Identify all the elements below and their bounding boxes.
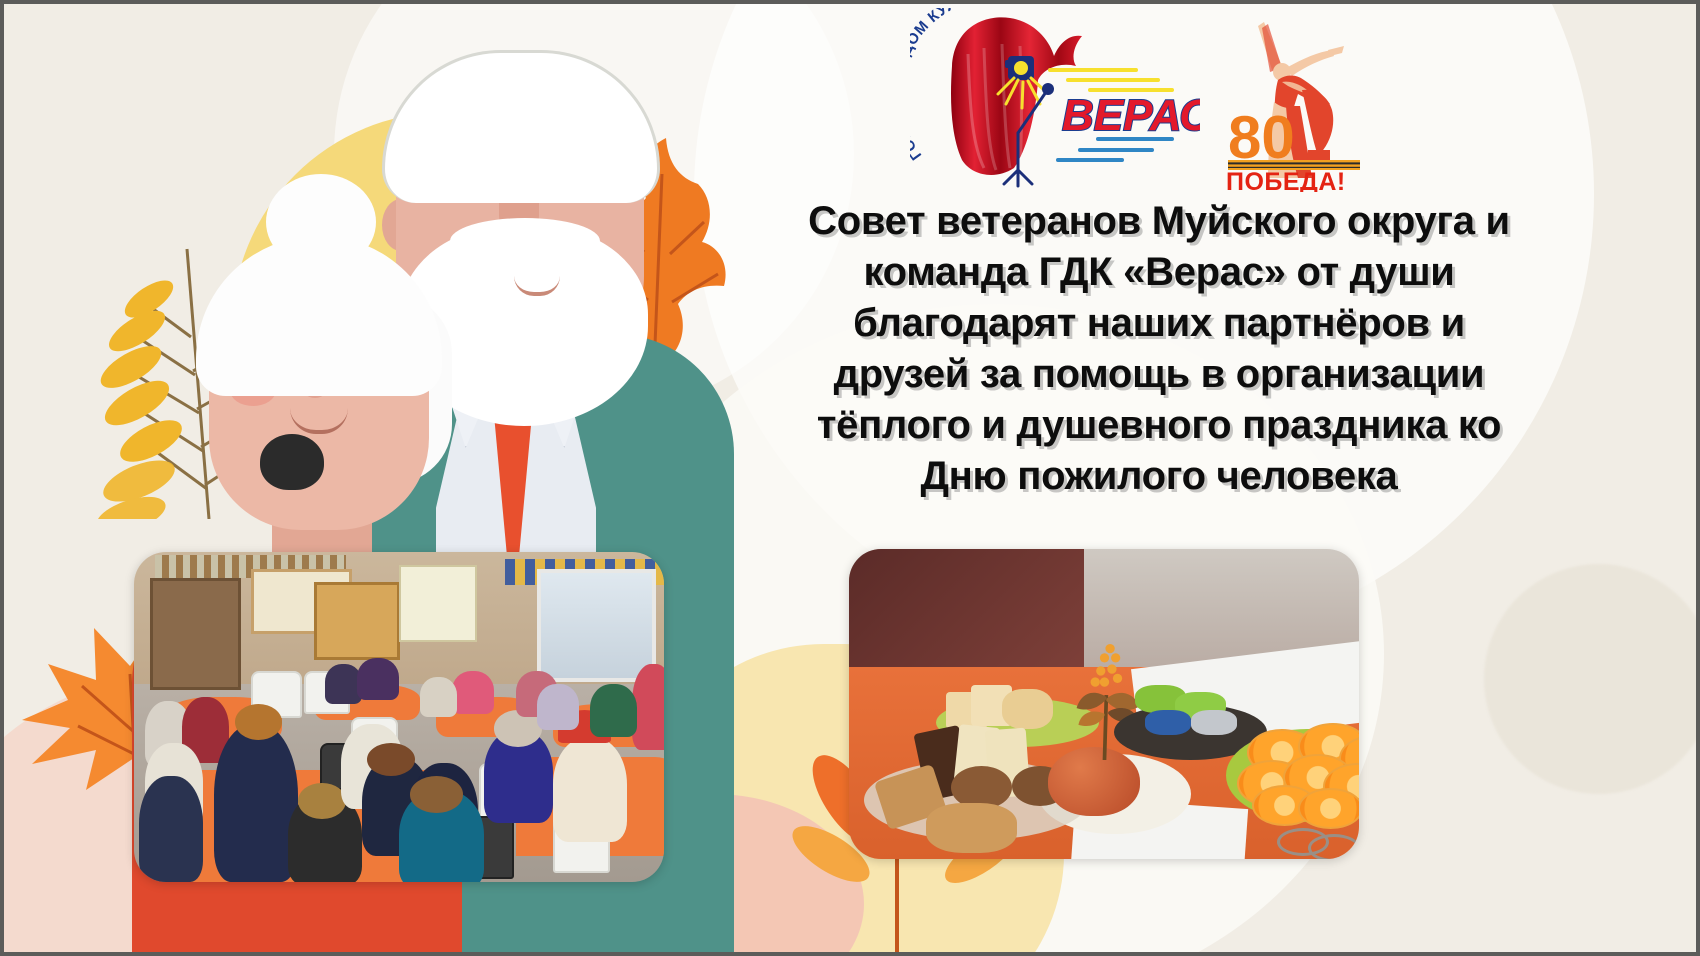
hall-person-head	[298, 783, 346, 819]
photo-festive-table	[849, 549, 1359, 859]
hall-person	[420, 677, 457, 717]
veras-wordmark: ВЕРАС	[1062, 91, 1200, 140]
hall-noticeboard-orange	[314, 582, 400, 661]
blue-rules	[1058, 139, 1172, 160]
yellow-rules	[1050, 70, 1172, 90]
gdk-veras-logo: ГОРОДСКОЙ ДОМ КУЛЬТУРЫ ВЕРАС	[910, 8, 1200, 188]
background-circle-right	[1484, 564, 1696, 794]
hall-person	[590, 684, 638, 737]
wrapped-candy	[1191, 710, 1237, 735]
photo-hall-gathering	[134, 552, 664, 882]
hall-person-head	[235, 704, 283, 740]
hall-person	[537, 684, 579, 730]
hall-noticeboard-light	[399, 565, 477, 642]
page-title: Совет ветеранов Муйского округа и команд…	[744, 196, 1574, 502]
hall-person-head	[410, 776, 463, 812]
poster-canvas: ГОРОДСКОЙ ДОМ КУЛЬТУРЫ ВЕРАС	[0, 0, 1700, 956]
orange-slice	[1298, 788, 1359, 829]
hall-person	[139, 776, 203, 882]
man-hair	[382, 50, 660, 203]
hall-person	[357, 658, 399, 701]
pastry	[926, 803, 1018, 853]
victory-80-logo: 80 ПОБЕДА!	[1212, 10, 1382, 192]
hall-person	[452, 671, 494, 714]
victory-caption: ПОБЕДА!	[1226, 168, 1346, 192]
woman-hair-bun	[266, 174, 376, 270]
woman-mouth	[260, 434, 324, 490]
man-moustache	[450, 218, 600, 264]
hall-person-costume	[553, 737, 627, 843]
hall-person-standing	[214, 724, 299, 882]
wrapped-candy	[1145, 710, 1191, 735]
hall-doorway	[150, 578, 241, 690]
hall-window	[537, 569, 656, 683]
eyeglasses-icon	[1308, 834, 1359, 859]
